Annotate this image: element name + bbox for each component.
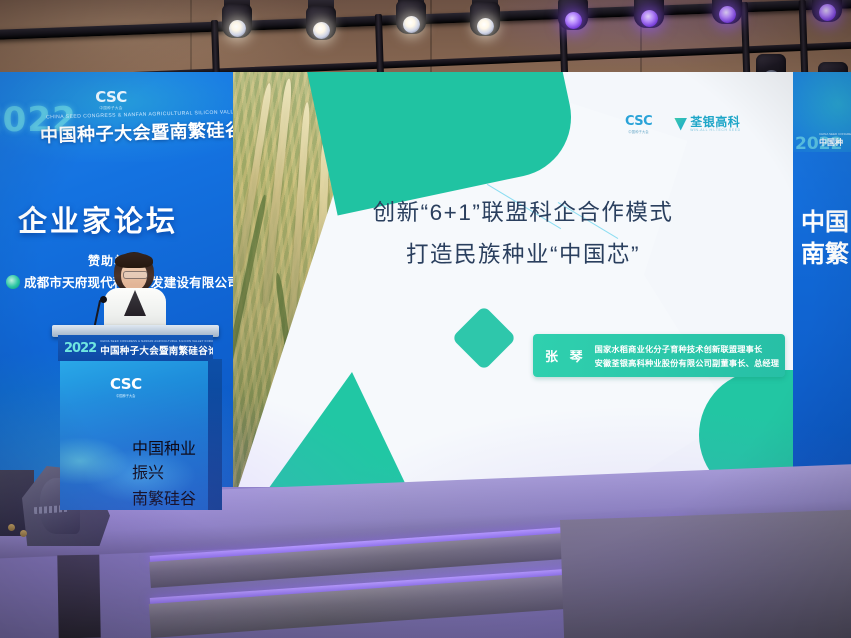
- speaker-name: 张 琴: [533, 346, 595, 365]
- light-lens: [229, 20, 246, 37]
- person-fringe: [115, 253, 153, 268]
- csc-logo-text: CSC: [110, 375, 142, 393]
- banner-big-line1: 中国: [801, 202, 849, 237]
- speaker-person: [104, 252, 166, 332]
- winall-logo-cn: 荃银高科: [690, 116, 741, 128]
- lectern-year: 2022: [64, 341, 96, 356]
- lectern-front-panel: CSC 中国种子大会 中国种业振兴 南繁硅谷崛起: [60, 361, 210, 510]
- lectern-chinese-line: 中国种子大会暨南繁硅谷论坛: [100, 343, 213, 357]
- light-lens: [565, 12, 582, 29]
- stage-light-spot: [396, 0, 426, 42]
- speaker-nameplate: 张 琴 国家水稻商业化分子育种技术创新联盟理事长 安徽荃银高科种业股份有限公司副…: [533, 334, 785, 377]
- lectern-slogan-line1: 中国种业振兴: [132, 435, 210, 483]
- banner-english-line: CHINA SEED CONGRESS: [819, 132, 851, 136]
- winall-logo: 荃银高科 WIN-ALL HI-TECH SEED: [674, 116, 741, 132]
- csc-logo: CSC 中国种子大会: [625, 114, 652, 134]
- microphone-head: [100, 296, 107, 303]
- banner-big-line2: 南繁: [801, 234, 849, 269]
- lectern-slogan-line2: 南繁硅谷崛起: [132, 485, 210, 510]
- stage-light-spot: [222, 0, 252, 46]
- csc-logo-sub: 中国种子大会: [99, 106, 122, 111]
- sponsor-logo-icon: [6, 275, 20, 289]
- presentation-slide: CSC 中国种子大会 荃银高科 WIN-ALL HI-TECH SEED 创新“…: [233, 72, 793, 487]
- csc-logo: CSC 中国种子大会: [110, 375, 142, 398]
- light-lens: [313, 22, 330, 39]
- speaker-foot: [8, 524, 15, 531]
- speaker-roles: 国家水稻商业化分子育种技术创新联盟理事长 安徽荃银高科种业股份有限公司副董事长、…: [595, 343, 780, 369]
- winall-logo-en: WIN-ALL HI-TECH SEED: [690, 128, 741, 132]
- stage-light-wash: [634, 0, 664, 36]
- forum-title: 企业家论坛: [18, 198, 218, 240]
- light-lens: [819, 4, 836, 21]
- slide-title-line1: 创新“6+1”联盟科企合作模式: [283, 192, 763, 234]
- stage-light-wash: [812, 0, 842, 30]
- stage-light-spot: [306, 0, 336, 48]
- slide-logo-row: CSC 中国种子大会 荃银高科 WIN-ALL HI-TECH SEED: [625, 114, 741, 134]
- conference-stage-photo: 2022 CSC 中国种子大会 CHINA SEED CONGRESS & NA…: [0, 0, 851, 638]
- lectern-slogan: 中国种业振兴 南繁硅谷崛起: [132, 435, 210, 510]
- slide-title: 创新“6+1”联盟科企合作模式 打造民族种业“中国芯”: [283, 192, 763, 275]
- csc-logo: CSC 中国种子大会: [84, 88, 138, 114]
- right-banner-panel: 2022 CHINA SEED CONGRESS 中国种 中国 南繁: [793, 72, 851, 487]
- csc-logo-sub: 中国种子大会: [116, 393, 135, 398]
- person-glasses: [123, 271, 148, 279]
- chevron-icon: [674, 118, 687, 131]
- lectern-header-bar: 2022 CHINA SEED CONGRESS & NANFAN AGRICU…: [58, 335, 213, 361]
- stage-block: [57, 555, 100, 638]
- light-lens: [641, 10, 658, 27]
- speaker-role-line2: 安徽荃银高科种业股份有限公司副董事长、总经理: [595, 357, 780, 369]
- stage-light-wash: [712, 0, 742, 32]
- csc-logo-text: CSC: [95, 88, 127, 106]
- lectern: 2022 CHINA SEED CONGRESS & NANFAN AGRICU…: [58, 325, 213, 510]
- speaker-foot: [20, 530, 27, 537]
- lectern-side-panel: [208, 359, 222, 510]
- light-lens: [477, 18, 494, 35]
- csc-logo-sub: 中国种子大会: [628, 129, 648, 134]
- light-lens: [403, 16, 420, 33]
- csc-logo-text: CSC: [625, 114, 652, 129]
- speaker-role-line1: 国家水稻商业化分子育种技术创新联盟理事长: [595, 343, 780, 355]
- stage-light-wash: [558, 0, 588, 38]
- light-lens: [719, 6, 736, 23]
- banner-chinese-small: 中国种: [819, 137, 843, 148]
- stage-riser: [560, 510, 851, 638]
- stage-light-spot: [470, 0, 500, 44]
- slide-title-line2: 打造民族种业“中国芯”: [283, 234, 763, 276]
